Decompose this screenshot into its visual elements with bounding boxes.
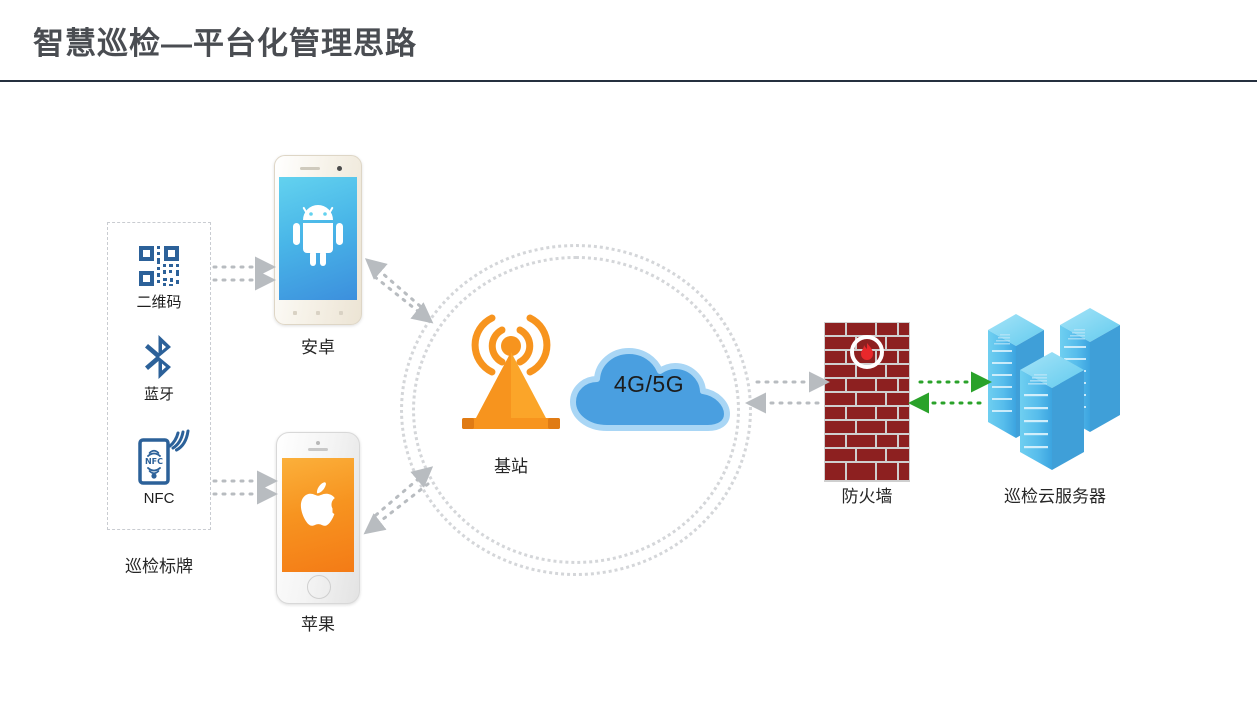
connector-tags-to-iphone	[214, 481, 266, 494]
connector-basestation-to-firewall	[757, 382, 818, 403]
connector-tags-to-android	[214, 267, 264, 280]
connector-iphone-to-basestation	[373, 474, 428, 527]
connector-android-to-basestation	[374, 266, 424, 316]
connector-firewall-to-servers	[920, 382, 980, 403]
connector-layer	[0, 0, 1257, 706]
slide-canvas: 智慧巡检—平台化管理思路	[0, 0, 1257, 706]
